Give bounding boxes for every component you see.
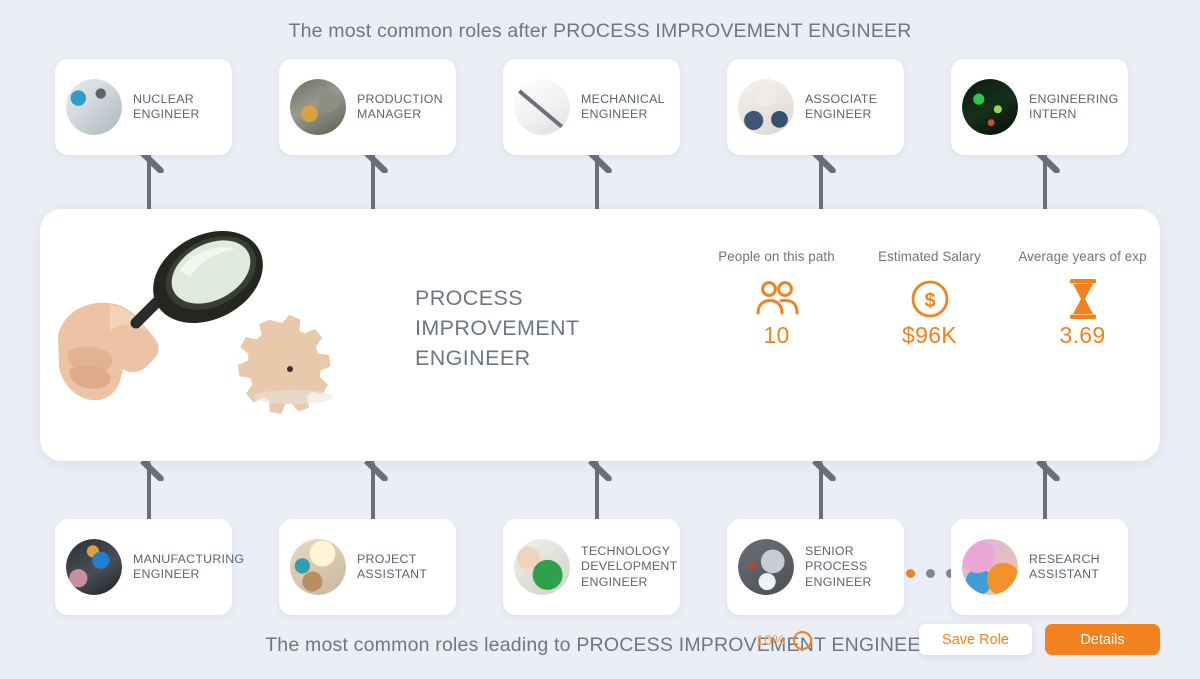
role-thumbnail bbox=[514, 539, 570, 595]
stat-people-on-this-path: People on this path 10 bbox=[700, 249, 853, 349]
stat-value: 10 bbox=[700, 322, 853, 349]
current-role-card: PROCESS IMPROVEMENT ENGINEER People on t… bbox=[40, 209, 1160, 461]
stat-value: 3.69 bbox=[1006, 322, 1159, 349]
role-thumbnail bbox=[290, 79, 346, 135]
page-title: PROCESS IMPROVEMENT ENGINEER bbox=[415, 283, 615, 373]
role-thumbnail bbox=[66, 79, 122, 135]
role-card-label: MANUFACTURING ENGINEER bbox=[133, 552, 244, 583]
role-card-label: SENIOR PROCESS ENGINEER bbox=[805, 544, 892, 591]
progress-percent-label: 10% bbox=[756, 633, 785, 649]
role-card-label: NUCLEAR ENGINEER bbox=[133, 92, 220, 123]
role-card-technology-development-engineer[interactable]: TECHNOLOGY DEVELOPMENT ENGINEER bbox=[503, 519, 680, 615]
stat-estimated-salary: Estimated Salary $ $96K bbox=[853, 249, 1006, 349]
role-card-manufacturing-engineer[interactable]: MANUFACTURING ENGINEER bbox=[55, 519, 232, 615]
stat-label: Average years of exp bbox=[1006, 249, 1159, 264]
role-card-label: ASSOCIATE ENGINEER bbox=[805, 92, 892, 123]
role-card-label: TECHNOLOGY DEVELOPMENT ENGINEER bbox=[581, 544, 677, 591]
stat-average-years-of-exp: Average years of exp 3.69 bbox=[1006, 249, 1159, 349]
dollar-coin-icon: $ bbox=[853, 276, 1006, 322]
role-card-label: RESEARCH ASSISTANT bbox=[1029, 552, 1116, 583]
match-progress: 10% bbox=[756, 631, 812, 650]
role-thumbnail bbox=[66, 539, 122, 595]
stats-row: People on this path 10 Estimated Salary … bbox=[700, 249, 1160, 349]
role-card-research-assistant[interactable]: RESEARCH ASSISTANT bbox=[951, 519, 1128, 615]
role-card-label: MECHANICAL ENGINEER bbox=[581, 92, 668, 123]
role-thumbnail bbox=[738, 539, 794, 595]
details-button[interactable]: Details bbox=[1045, 624, 1160, 655]
role-card-nuclear-engineer[interactable]: NUCLEAR ENGINEER bbox=[55, 59, 232, 155]
progress-ring-icon bbox=[793, 631, 812, 650]
role-card-project-assistant[interactable]: PROJECT ASSISTANT bbox=[279, 519, 456, 615]
role-card-mechanical-engineer[interactable]: MECHANICAL ENGINEER bbox=[503, 59, 680, 155]
role-card-senior-process-engineer[interactable]: SENIOR PROCESS ENGINEER bbox=[727, 519, 904, 615]
role-thumbnail bbox=[962, 79, 1018, 135]
role-card-production-manager[interactable]: PRODUCTION MANAGER bbox=[279, 59, 456, 155]
hourglass-icon bbox=[1006, 276, 1159, 322]
page-title-top: The most common roles after PROCESS IMPR… bbox=[0, 20, 1200, 43]
role-thumbnail bbox=[290, 539, 346, 595]
stat-value: $96K bbox=[853, 322, 1006, 349]
stat-label: Estimated Salary bbox=[853, 249, 1006, 264]
svg-text:$: $ bbox=[924, 290, 935, 312]
people-icon bbox=[700, 276, 853, 322]
stat-label: People on this path bbox=[700, 249, 853, 264]
role-card-label: PROJECT ASSISTANT bbox=[357, 552, 444, 583]
next-roles-row: NUCLEAR ENGINEER PRODUCTION MANAGER MECH… bbox=[55, 59, 1145, 155]
role-card-associate-engineer[interactable]: ASSOCIATE ENGINEER bbox=[727, 59, 904, 155]
save-role-button[interactable]: Save Role bbox=[919, 624, 1032, 655]
role-thumbnail bbox=[738, 79, 794, 135]
role-card-label: PRODUCTION MANAGER bbox=[357, 92, 444, 123]
role-card-label: ENGINEERING INTERN bbox=[1029, 92, 1119, 123]
role-card-engineering-intern[interactable]: ENGINEERING INTERN bbox=[951, 59, 1128, 155]
hero-illustration-magnifying-glass bbox=[50, 231, 380, 431]
role-thumbnail bbox=[514, 79, 570, 135]
role-thumbnail bbox=[962, 539, 1018, 595]
previous-roles-row: MANUFACTURING ENGINEER PROJECT ASSISTANT… bbox=[55, 519, 1145, 615]
